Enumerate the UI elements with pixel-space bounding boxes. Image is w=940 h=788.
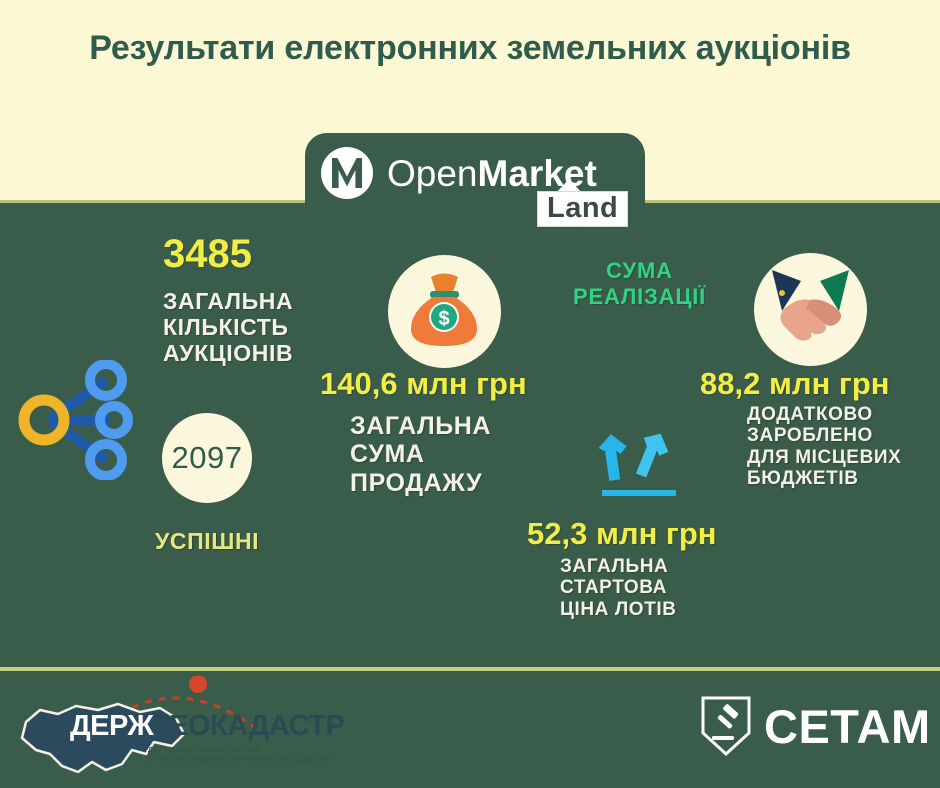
setam-wordmark: СЕТАМ (764, 703, 931, 750)
page-title: Результати електронних земельних аукціон… (50, 28, 890, 70)
land-badge-label: Land (547, 192, 618, 224)
local-budgets-caption: ДОДАТКОВОЗАРОБЛЕНОДЛЯ МІСЦЕВИХБЮДЖЕТІВ (747, 404, 901, 490)
realization-label: СУМАРЕАЛІЗАЦІЇ (573, 258, 706, 309)
geokadastr-word-derzh: ДЕРЖ (70, 710, 153, 742)
geokadastr-logo[interactable]: ДЕРЖГЕОКАДАСТР ДЕРЖАВНА СЛУЖБА УКРАЇНИЗ … (8, 676, 338, 784)
total-sale-caption: ЗАГАЛЬНАСУМАПРОДАЖУ (350, 412, 491, 497)
start-price-value: 52,3 млн грн (527, 516, 716, 552)
total-auctions-value: 3485 (163, 232, 252, 277)
openmarket-logo-tab[interactable]: OpenMarket Land (305, 133, 645, 233)
svg-text:$: $ (438, 308, 449, 330)
successful-auctions-caption: УСПІШНІ (155, 528, 259, 554)
geokadastr-subtitle: ДЕРЖАВНА СЛУЖБА УКРАЇНИЗ ПИТАНЬ ГЕОДЕЗІЇ… (148, 746, 332, 766)
share-network-icon (10, 360, 140, 480)
infographic-root: Результати електронних земельних аукціон… (0, 0, 940, 788)
openmarket-word-open: Open (387, 153, 478, 194)
successful-auctions-circle: 2097 (162, 413, 252, 503)
geokadastr-wordmark: ДЕРЖГЕОКАДАСТР (70, 712, 344, 741)
geokadastr-word-geokadastr: ГЕОКАДАСТР (153, 710, 344, 742)
setam-logo[interactable]: СЕТАМ (700, 695, 931, 757)
openmarket-m-icon (321, 147, 373, 199)
money-bag-icon: $ (388, 255, 501, 368)
total-auctions-caption: ЗАГАЛЬНАКІЛЬКІСТЬАУКЦІОНІВ (163, 288, 293, 366)
land-badge: Land (537, 191, 628, 227)
gavel-shield-icon (700, 695, 752, 757)
local-budgets-value: 88,2 млн грн (700, 366, 889, 402)
handshake-icon (754, 253, 867, 366)
successful-auctions-value: 2097 (172, 440, 243, 476)
start-price-caption: ЗАГАЛЬНАСТАРТОВАЦІНА ЛОТІВ (560, 556, 677, 620)
total-sale-value: 140,6 млн грн (320, 366, 527, 402)
up-arrows-icon (592, 432, 688, 508)
